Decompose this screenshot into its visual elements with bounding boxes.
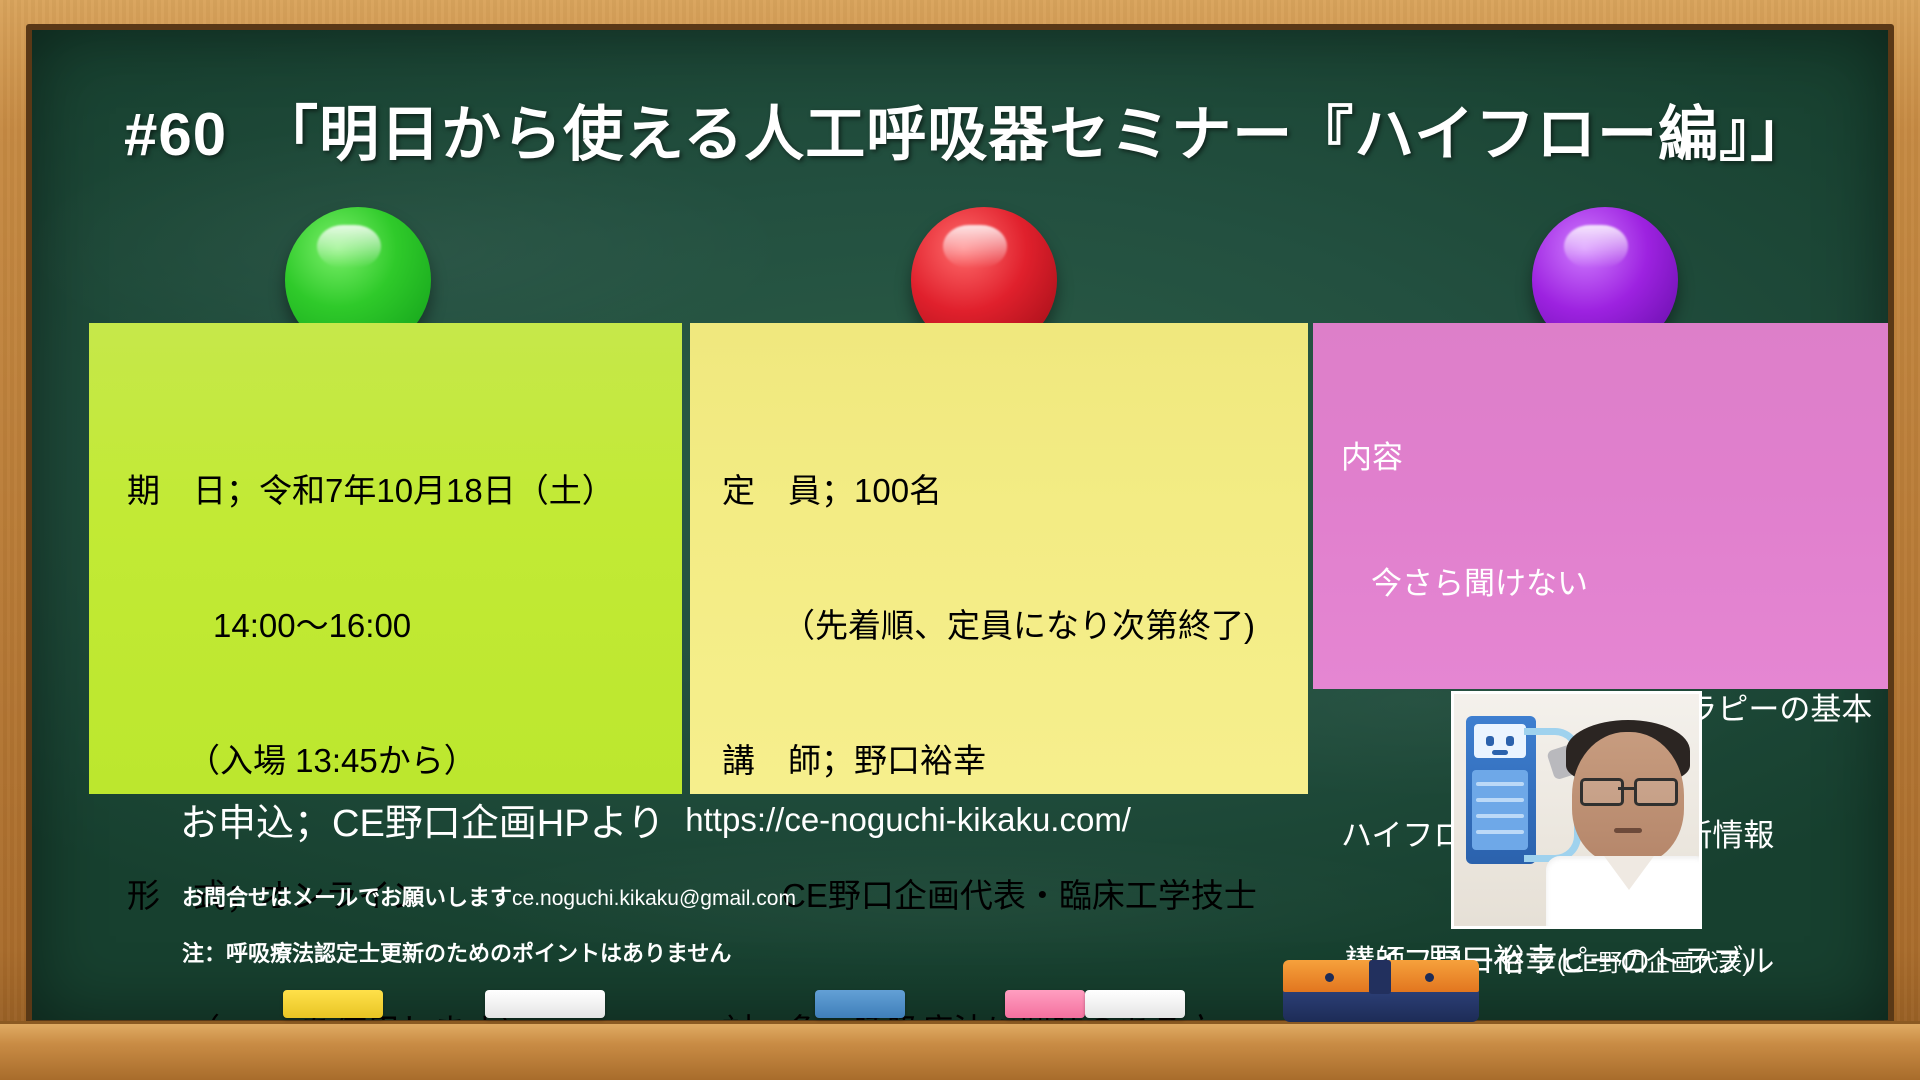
schedule-line-entry: （入場 13:45から）	[127, 738, 682, 783]
instructor-affiliation: (CE野口企画代表)	[1557, 950, 1750, 977]
glasses-icon	[1580, 778, 1678, 800]
chalk-piece-white-1	[485, 990, 605, 1018]
details-line-lecturer: 講 師；野口裕幸	[722, 738, 1308, 783]
person-mouth	[1614, 828, 1642, 833]
page-title: #60 「明日から使える人工呼吸器セミナー『ハイフロー編』」	[124, 86, 1824, 173]
chalk-piece-pink	[1005, 990, 1085, 1018]
details-line-lecturer-title: CE野口企画代表・臨床工学技士	[722, 873, 1308, 918]
schedule-line-date: 期 日；令和7年10月18日（土）	[127, 468, 682, 513]
details-line-capacity-note: （先着順、定員になり次第終了)	[722, 603, 1308, 648]
chalk-piece-blue	[815, 990, 905, 1018]
schedule-line-time: 14:00〜16:00	[127, 603, 682, 648]
poster-stage: #60 「明日から使える人工呼吸器セミナー『ハイフロー編』」 期 日；令和7年1…	[0, 0, 1920, 1080]
chalk-piece-yellow	[283, 990, 383, 1018]
eraser-rivet-left	[1325, 973, 1334, 982]
apply-label: お申込；CE野口企画HPより	[180, 803, 665, 845]
device-eye-left	[1486, 736, 1494, 746]
apply-url-link[interactable]: https://ce-noguchi-kikaku.com/	[685, 801, 1131, 838]
eraser-rivet-right	[1425, 973, 1434, 982]
details-line-capacity: 定 員；100名	[722, 468, 1308, 513]
device-stripe-1	[1476, 782, 1524, 786]
contact-label: お問合せはメールでお願いします	[182, 885, 512, 910]
chalkboard: #60 「明日から使える人工呼吸器セミナー『ハイフロー編』」 期 日；令和7年1…	[32, 30, 1888, 1020]
details-panel-text: 定 員；100名 （先着順、定員になり次第終了) 講 師；野口裕幸 CE野口企画…	[722, 378, 1308, 1020]
device-mouth	[1492, 750, 1508, 755]
contents-line-heading: 内容	[1341, 437, 1888, 479]
contact-email-link[interactable]: ce.noguchi.kikaku@gmail.com	[512, 887, 796, 910]
contents-line-1: 今さら聞けない	[1341, 563, 1888, 605]
glasses-lens-left	[1580, 778, 1624, 806]
schedule-panel-text: 期 日；令和7年10月18日（土） 14:00〜16:00 （入場 13:45か…	[127, 378, 682, 1020]
eraser-felt	[1283, 990, 1479, 1022]
glasses-lens-right	[1634, 778, 1678, 806]
blackboard-eraser-icon	[1283, 960, 1479, 1022]
footer-note: 注：呼吸療法認定士更新のためのポイントはありません	[182, 936, 731, 968]
device-stripe-4	[1476, 830, 1524, 834]
contents-panel: 内容 今さら聞けない ハイフローセラピーの基本 ハイフローセラピーの最新情報 ハ…	[1313, 323, 1888, 689]
glasses-bridge	[1618, 787, 1634, 790]
eraser-strap	[1369, 960, 1391, 994]
contact-row: お問合せはメールでお願いしますce.noguchi.kikaku@gmail.c…	[182, 880, 796, 912]
chalk-ledge	[0, 1021, 1920, 1080]
instructor-photo	[1451, 691, 1702, 929]
device-stripe-2	[1476, 798, 1524, 802]
schedule-panel: 期 日；令和7年10月18日（土） 14:00〜16:00 （入場 13:45か…	[89, 323, 682, 794]
device-stripe-3	[1476, 814, 1524, 818]
device-eye-right	[1506, 736, 1514, 746]
details-panel: 定 員；100名 （先着順、定員になり次第終了) 講 師；野口裕幸 CE野口企画…	[690, 323, 1308, 794]
chalk-piece-white-2	[1085, 990, 1185, 1018]
apply-row: お申込；CE野口企画HPより https://ce-noguchi-kikaku…	[180, 792, 1280, 847]
